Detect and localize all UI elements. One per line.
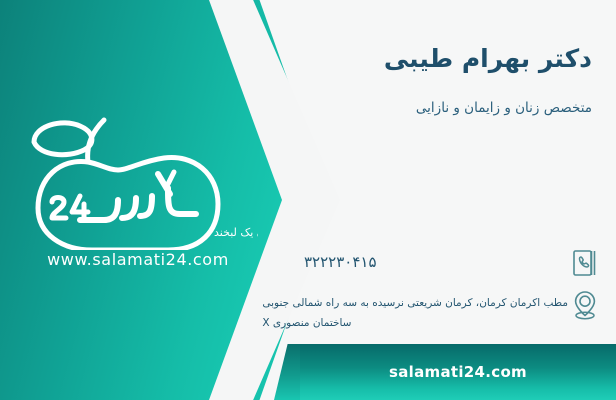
- map-pin-icon: [568, 288, 602, 322]
- logo-website: www.salamati24.com: [18, 250, 258, 269]
- footer-bar: salamati24.com: [300, 344, 616, 400]
- address-line-2: ساختمان منصوری X: [262, 317, 351, 329]
- contact-row-phone[interactable]: ۳۲۲۲۳۰۴۱۵: [300, 246, 602, 280]
- doctor-specialty: متخصص زنان و زایمان و نازایی: [416, 100, 592, 116]
- phone-book-icon: [568, 246, 602, 280]
- doctor-name: دکتر بهرام طیبی: [384, 44, 592, 73]
- contact-block: ۳۲۲۲۳۰۴۱۵ مطب اکرمان کرمان، کرمان شریعتی…: [300, 246, 602, 339]
- footer-website[interactable]: salamati24.com: [389, 363, 527, 381]
- logo-tagline: به راحتی یک لبخند: [214, 226, 258, 239]
- card-content: دکتر بهرام طیبی متخصص زنان و زایمان و نا…: [300, 0, 616, 340]
- contact-row-address[interactable]: مطب اکرمان کرمان، کرمان شریعتی نرسیده به…: [300, 288, 602, 331]
- phone-number: ۳۲۲۲۳۰۴۱۵: [300, 246, 568, 271]
- address-line-1: مطب اکرمان کرمان، کرمان شریعتی نرسیده به…: [262, 297, 568, 309]
- apple-logo-icon: به راحتی یک لبخند: [18, 110, 258, 250]
- address-text: مطب اکرمان کرمان، کرمان شریعتی نرسیده به…: [258, 288, 568, 331]
- business-card: به راحتی یک لبخند www.salamati24.com دکت…: [0, 0, 616, 400]
- brand-logo: به راحتی یک لبخند www.salamati24.com: [18, 110, 258, 280]
